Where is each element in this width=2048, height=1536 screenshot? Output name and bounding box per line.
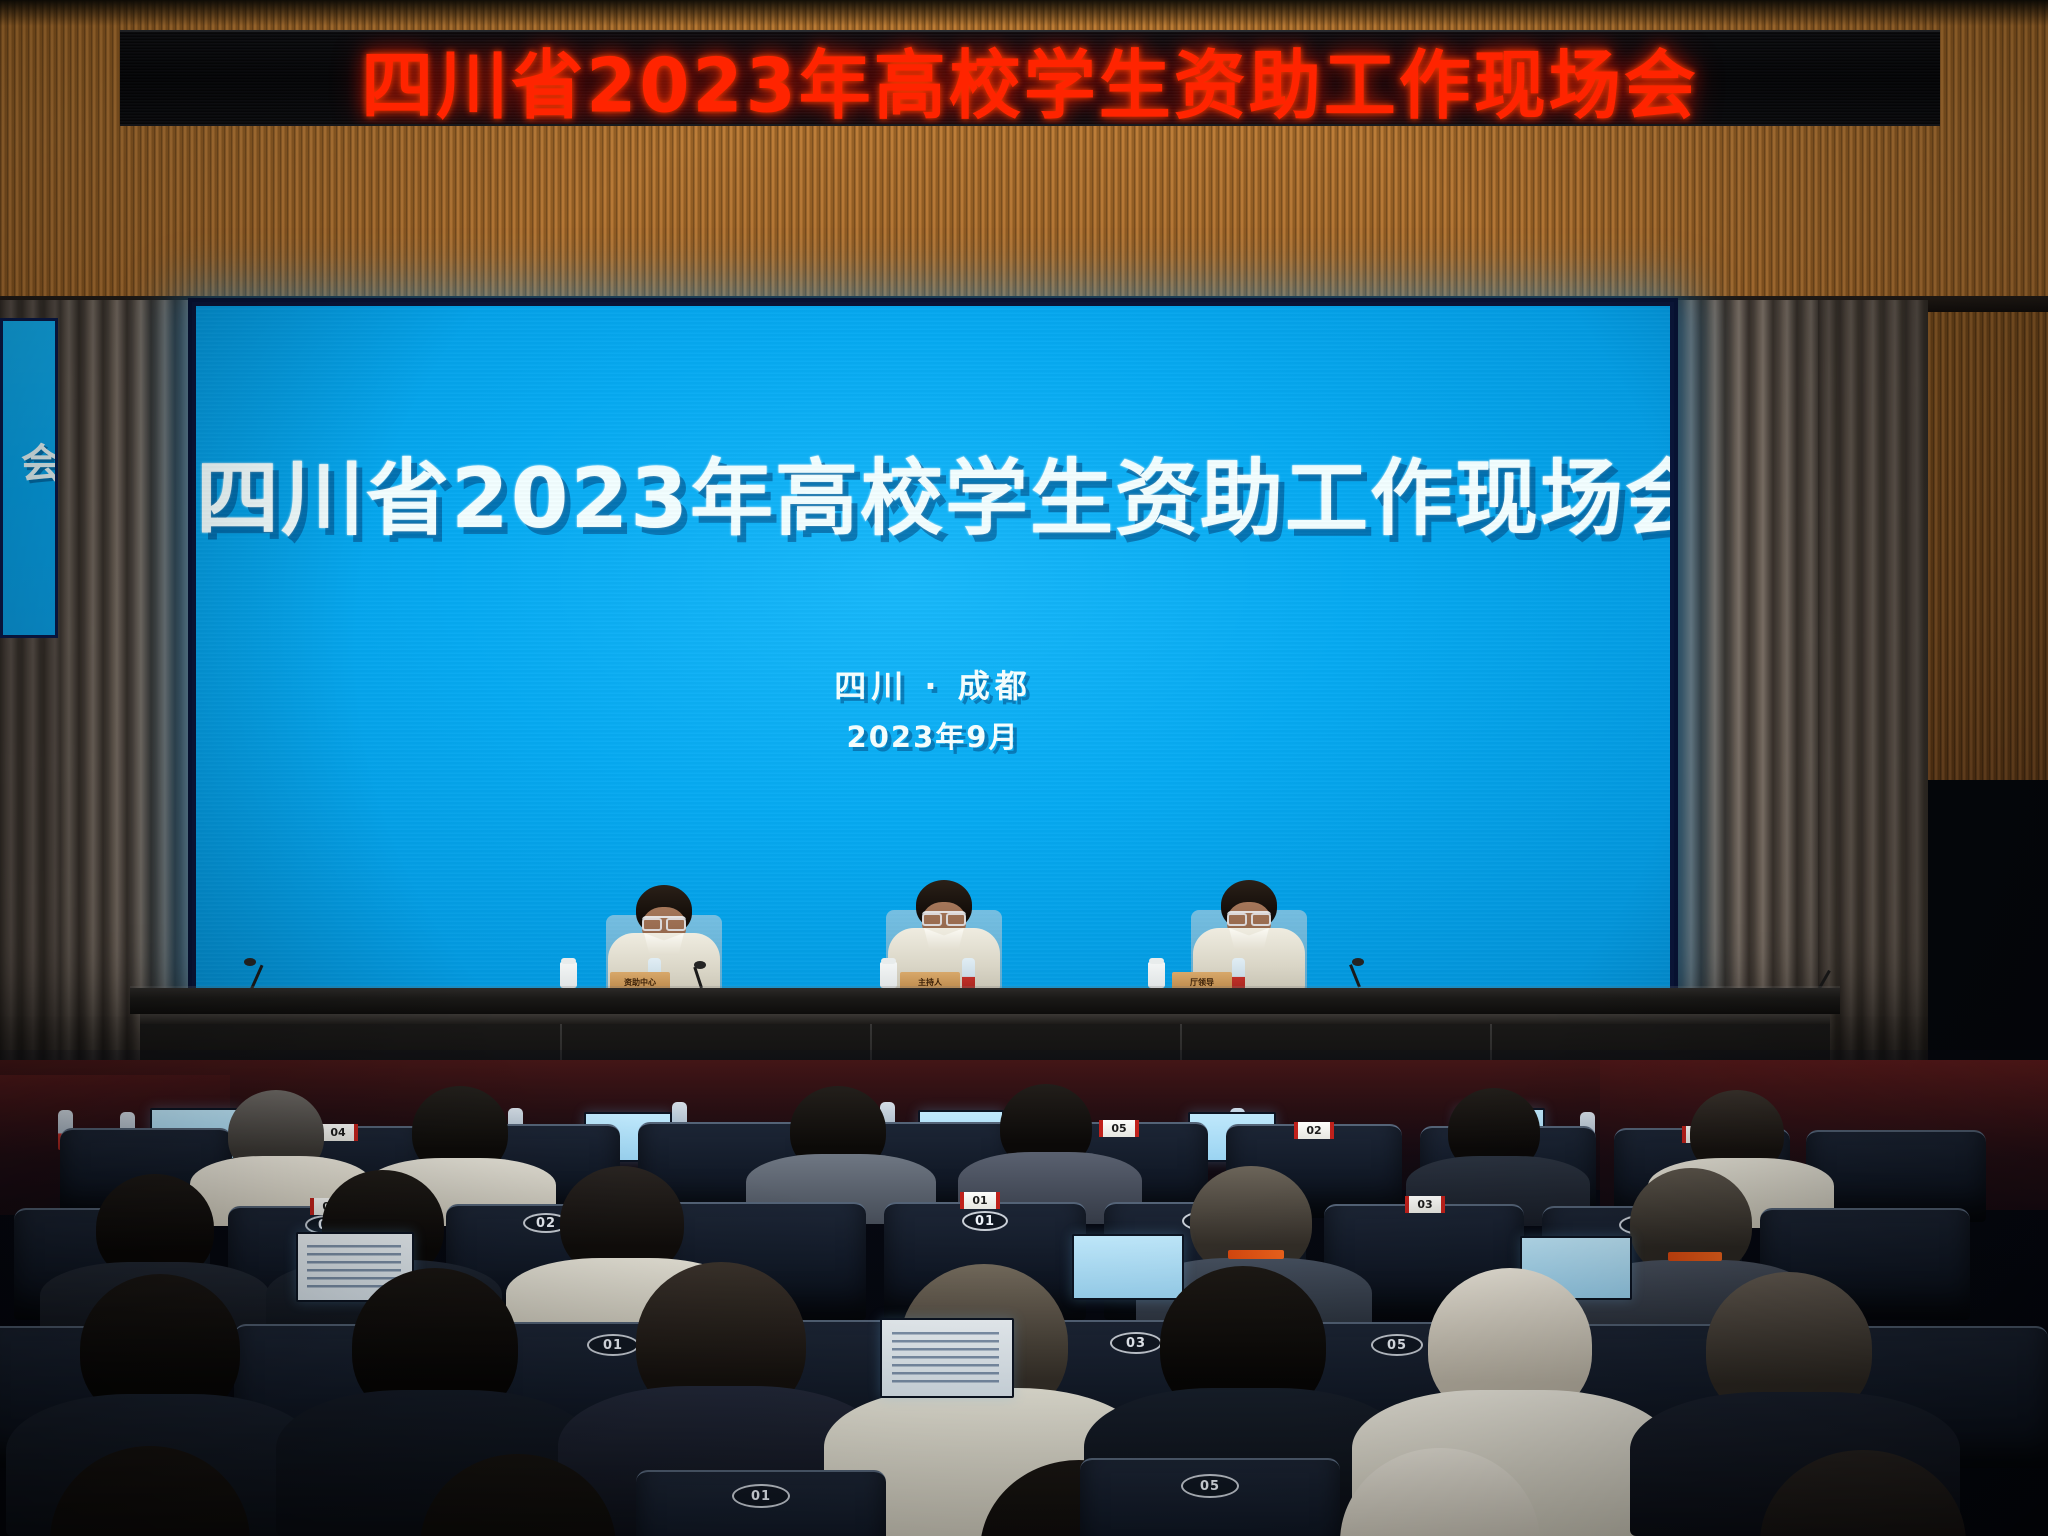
lanyard bbox=[1668, 1252, 1722, 1261]
seat-badge: 05 bbox=[1181, 1474, 1239, 1498]
seat-tag-text: 05 bbox=[1111, 1122, 1126, 1135]
seat-badge-text: 01 bbox=[751, 1489, 771, 1504]
presidium-table-top bbox=[130, 988, 1840, 1014]
seat-badge-text: 01 bbox=[975, 1214, 995, 1229]
seat-badge-text: 03 bbox=[1126, 1336, 1146, 1351]
nameplate-right-text: 厅领导 bbox=[1190, 977, 1214, 988]
water-bottle bbox=[962, 958, 975, 992]
audience-chair[interactable]: 01 bbox=[636, 1470, 886, 1536]
seat-tag: 05 bbox=[1099, 1120, 1139, 1137]
seat-badge: 01 bbox=[732, 1484, 790, 1508]
seat-tag-text: 02 bbox=[1306, 1124, 1321, 1137]
side-projection-screen: 会 bbox=[0, 318, 58, 638]
curtain-right bbox=[1658, 300, 1818, 1060]
seat-badge: 01 bbox=[587, 1334, 639, 1356]
seat-badge: 05 bbox=[1371, 1334, 1423, 1356]
led-banner-text: 四川省2023年高校学生资助工作现场会 bbox=[361, 30, 1698, 126]
water-bottle bbox=[1232, 958, 1245, 992]
laptop-screen bbox=[880, 1318, 1014, 1398]
screen-title: 四川省2023年高校学生资助工作现场会 bbox=[196, 431, 1670, 551]
seat-badge-text: 05 bbox=[1387, 1338, 1407, 1353]
laptop-screen bbox=[1072, 1234, 1184, 1300]
seat-tag-text: 04 bbox=[330, 1126, 345, 1139]
screen-subtitle-date: 2023年9月 bbox=[196, 714, 1670, 756]
glasses-icon bbox=[1227, 911, 1271, 920]
lanyard bbox=[1228, 1250, 1284, 1259]
microphone-head bbox=[694, 961, 706, 969]
side-screen-glyph: 会 bbox=[21, 431, 58, 489]
seat-tag-text: 03 bbox=[1417, 1198, 1432, 1211]
glasses-icon bbox=[922, 911, 966, 920]
microphone-head bbox=[244, 958, 256, 966]
screen-subtitle-location: 四川 · 成都 bbox=[196, 661, 1670, 707]
nameplate-left-text: 资助中心 bbox=[624, 977, 656, 988]
ceiling-shadow bbox=[0, 0, 2048, 26]
seat-tag: 04 bbox=[318, 1124, 358, 1141]
tea-cup bbox=[1148, 962, 1165, 988]
seat-badge-text: 05 bbox=[1200, 1479, 1220, 1494]
nameplate-center-text: 主持人 bbox=[918, 977, 942, 988]
tea-cup bbox=[560, 962, 577, 988]
curtain-far-right bbox=[1818, 300, 1928, 1060]
audience-chair[interactable]: 05 bbox=[1080, 1458, 1340, 1536]
seat-badge-text: 01 bbox=[603, 1338, 623, 1353]
seat-tag: 03 bbox=[1405, 1196, 1445, 1213]
glasses-icon bbox=[642, 916, 686, 925]
led-banner: 四川省2023年高校学生资助工作现场会 bbox=[120, 30, 1940, 126]
seat-badge-text: 02 bbox=[536, 1216, 556, 1231]
audience-area: 04 05 02 07 bbox=[0, 1050, 2048, 1536]
seat-tag-text: 01 bbox=[972, 1194, 987, 1207]
seat-tag: 02 bbox=[1294, 1122, 1334, 1139]
seat-badge: 03 bbox=[1110, 1332, 1162, 1354]
seat-tag: 01 bbox=[960, 1192, 1000, 1209]
conference-photo: 四川省2023年高校学生资助工作现场会 会 四川省2023年高校学生资助工作现场… bbox=[0, 0, 2048, 1536]
seat-badge: 01 bbox=[962, 1211, 1008, 1231]
document-text-lines bbox=[892, 1332, 999, 1385]
tea-cup bbox=[880, 962, 897, 988]
table-front-edge bbox=[140, 1014, 1830, 1024]
microphone-head bbox=[1352, 958, 1364, 966]
